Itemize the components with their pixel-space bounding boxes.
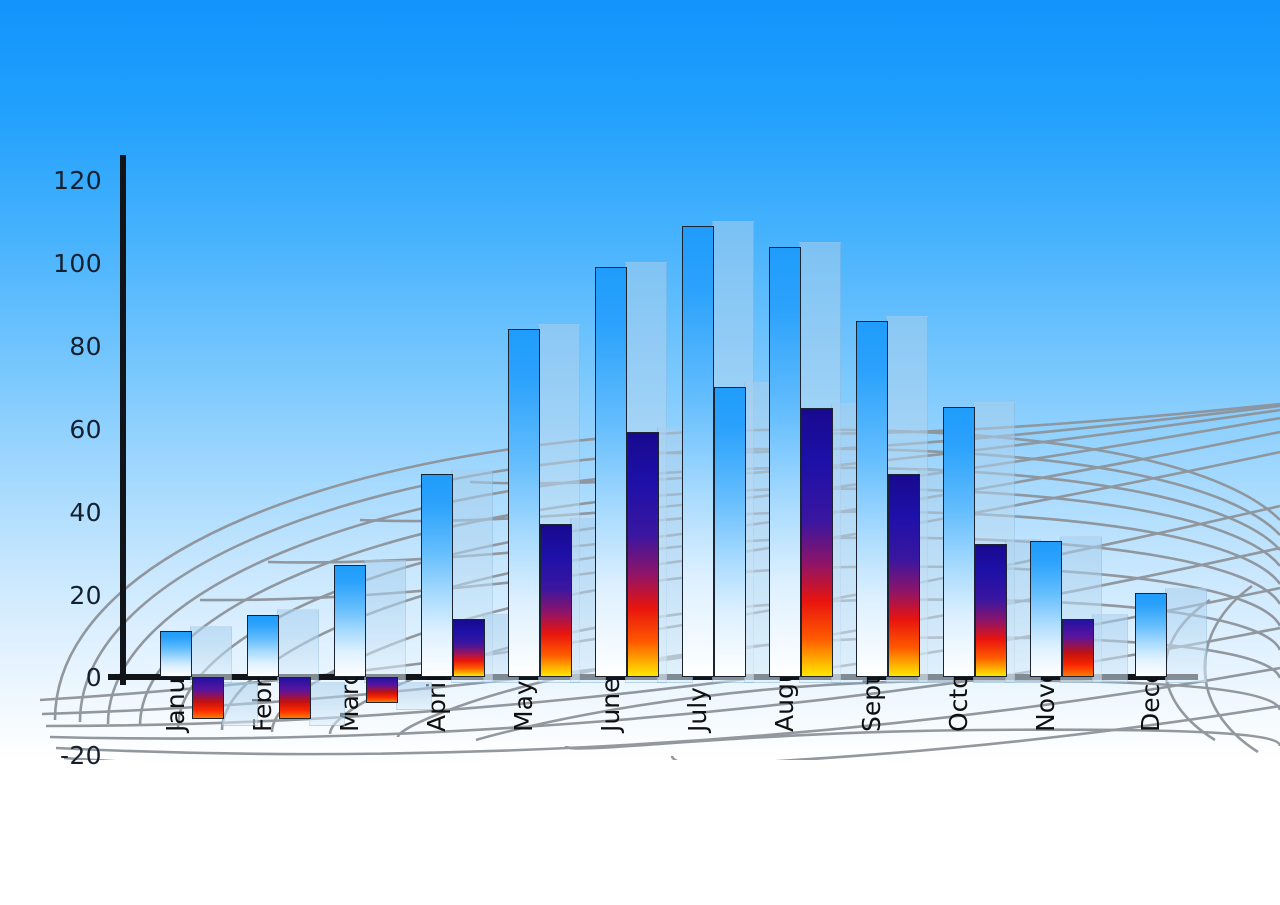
y-tick-100: 100: [40, 251, 102, 276]
bar-mar-series2[interactable]: [366, 677, 398, 703]
bar-jan-series2[interactable]: [192, 677, 224, 719]
bar-apr-series2[interactable]: [453, 619, 485, 677]
bar-shadow-mar-s1: [364, 560, 406, 683]
bar-aug-series2[interactable]: [801, 408, 833, 677]
bar-jun-series1[interactable]: [595, 267, 627, 677]
bar-shadow-jan-s2: [222, 682, 258, 726]
bar-oct-series2[interactable]: [975, 544, 1007, 677]
x-label-june: June: [598, 678, 623, 732]
bar-shadow-dec-s1: [1165, 588, 1207, 683]
y-tick-40: 40: [40, 500, 102, 525]
x-label-july: July: [685, 687, 710, 732]
y-tick-20: 20: [40, 583, 102, 608]
bar-oct-series1[interactable]: [943, 407, 975, 677]
bar-sep-series1[interactable]: [856, 321, 888, 677]
bar-nov-series1[interactable]: [1030, 541, 1062, 677]
bar-jun-series2[interactable]: [627, 432, 659, 677]
x-label-may: May: [511, 680, 536, 732]
y-tick-minus20: -20: [30, 743, 102, 768]
chart-canvas: 120 100 80 60 40 20 0 -20: [0, 0, 1280, 905]
bar-shadow-feb-s1: [277, 609, 319, 683]
bar-mar-series1[interactable]: [334, 565, 366, 677]
y-axis-line: [120, 155, 126, 685]
plot-area: 120 100 80 60 40 20 0 -20: [0, 0, 1280, 905]
bar-shadow-feb-s2: [309, 682, 345, 726]
bar-aug-series1[interactable]: [769, 247, 801, 677]
bar-jan-series1[interactable]: [160, 631, 192, 677]
bar-apr-series1[interactable]: [421, 474, 453, 677]
y-tick-120: 120: [40, 168, 102, 193]
bar-jul-series2[interactable]: [714, 387, 746, 677]
bar-jul-series1[interactable]: [682, 226, 714, 677]
bar-shadow-jan-s1: [190, 626, 232, 683]
y-tick-80: 80: [40, 334, 102, 359]
y-tick-60: 60: [40, 417, 102, 442]
bar-feb-series2[interactable]: [279, 677, 311, 719]
bar-sep-series2[interactable]: [888, 474, 920, 677]
bar-shadow-mar-s2: [396, 682, 432, 710]
bar-may-series2[interactable]: [540, 524, 572, 677]
bar-shadow-nov-s2: [1092, 614, 1128, 683]
y-tick-0: 0: [40, 665, 102, 690]
bar-nov-series2[interactable]: [1062, 619, 1094, 677]
bar-dec-series1[interactable]: [1135, 593, 1167, 677]
bar-feb-series1[interactable]: [247, 615, 279, 677]
bar-may-series1[interactable]: [508, 329, 540, 677]
